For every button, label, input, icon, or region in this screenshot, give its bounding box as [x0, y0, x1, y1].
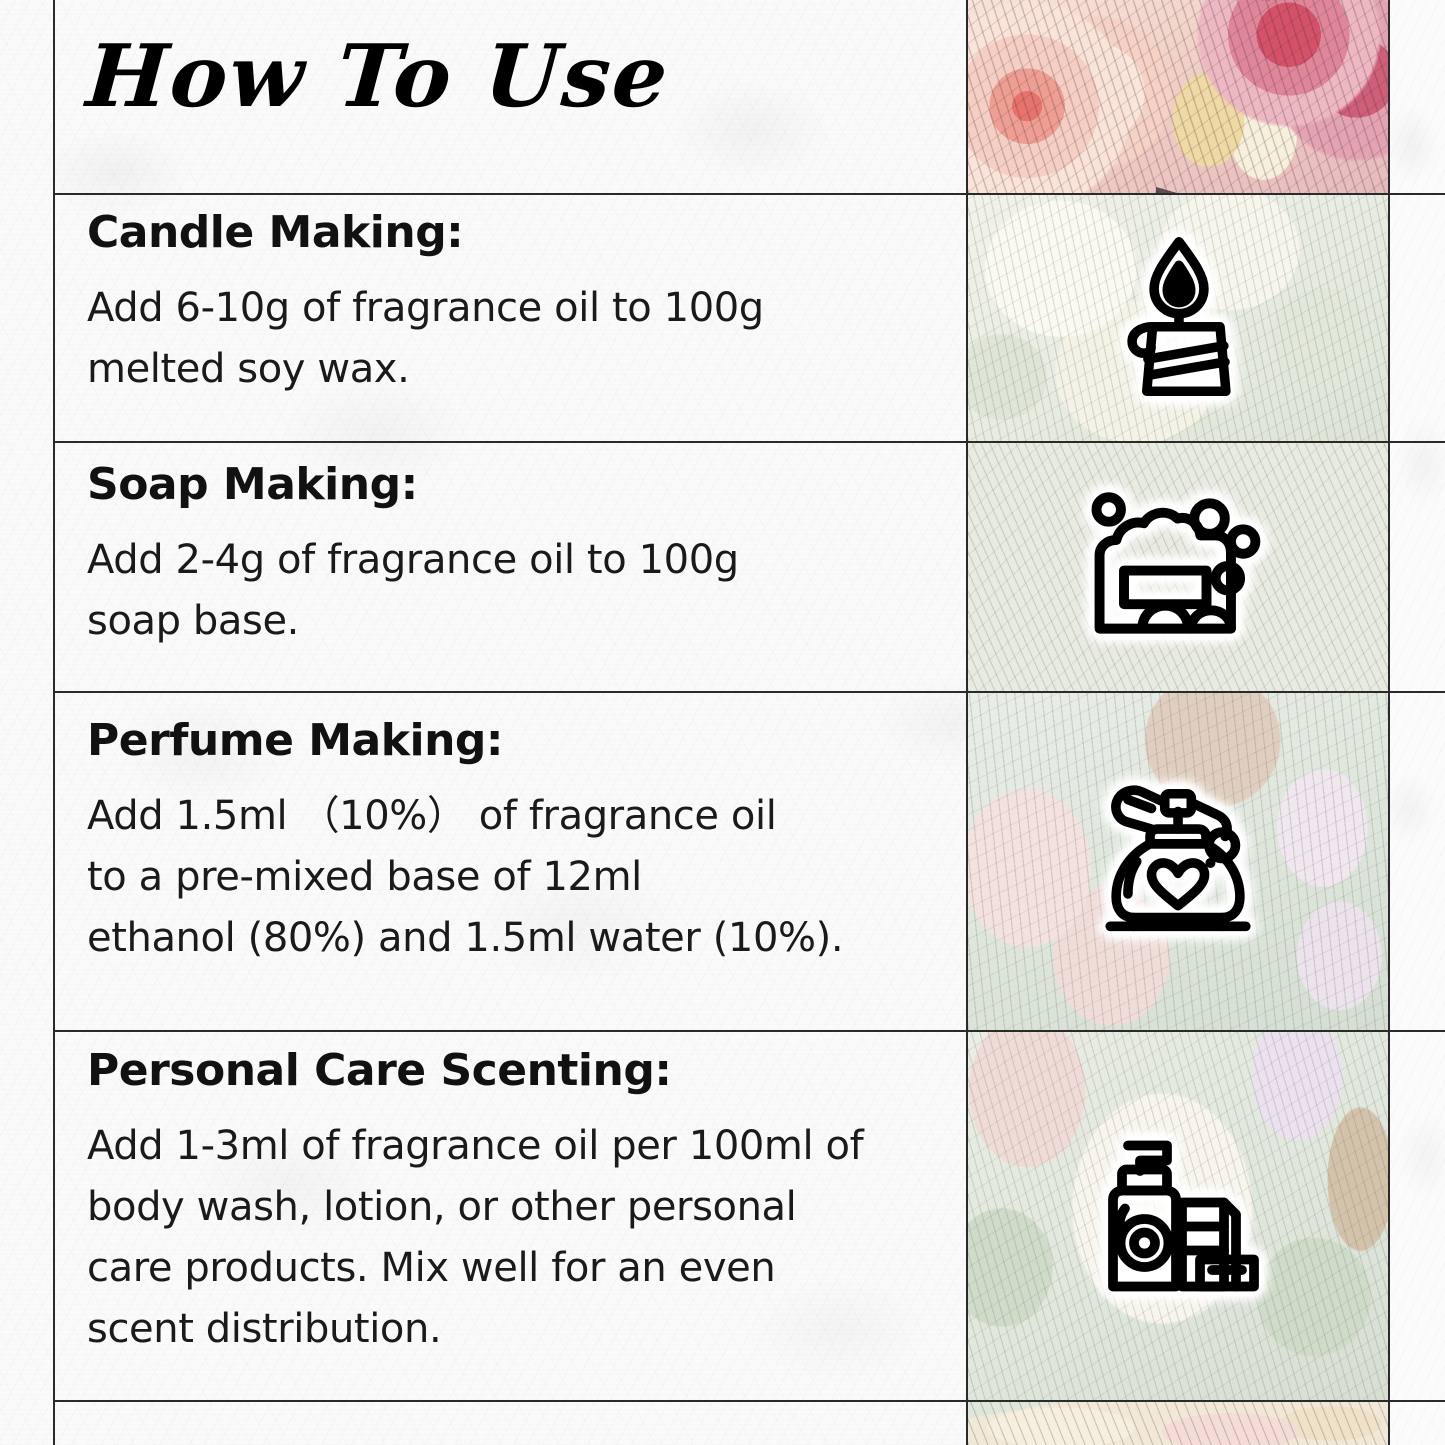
body-line: Add 1.5ml （10%） of fragrance oil [87, 786, 968, 847]
soap-bar-icon [968, 443, 1390, 691]
candle-icon [968, 195, 1390, 441]
photo-bloom [968, 1032, 1390, 1400]
body-line: Add 6-10g of fragrance oil to 100g [87, 278, 968, 339]
table-right-border [1388, 0, 1390, 1445]
section-body: Add 1-3ml of fragrance oil per 100ml of … [87, 1116, 968, 1359]
body-line: care products. Mix well for an even [87, 1238, 968, 1299]
section-heading: Soap Making: [87, 462, 968, 508]
body-line: scent distribution. [87, 1299, 968, 1360]
photo-sage [968, 693, 1390, 1030]
right-paper-margin [1390, 0, 1445, 1445]
section-heading: Perfume Making: [87, 718, 968, 764]
photo-roses [968, 0, 1390, 193]
body-line: ethanol (80%) and 1.5ml water (10%). [87, 908, 968, 969]
body-line: soap base. [87, 591, 968, 652]
section-personal-care-scenting: Personal Care Scenting: Add 1-3ml of fra… [55, 1048, 968, 1359]
section-perfume-making: Perfume Making: Add 1.5ml （10%） of fragr… [55, 718, 968, 969]
section-body: Add 6-10g of fragrance oil to 100g melte… [87, 278, 968, 400]
photo-berries [968, 443, 1390, 691]
section-heading: Candle Making: [87, 210, 968, 256]
table-middle-border [966, 0, 968, 1445]
divider-after-perfume [53, 1030, 1445, 1032]
body-line: melted soy wax. [87, 339, 968, 400]
body-line: Add 1-3ml of fragrance oil per 100ml of [87, 1116, 968, 1177]
photo-bottom [968, 1402, 1390, 1445]
photo-magnolia [968, 195, 1390, 441]
perfume-bottle-icon [968, 693, 1390, 1030]
section-heading: Personal Care Scenting: [87, 1048, 968, 1094]
section-soap-making: Soap Making: Add 2-4g of fragrance oil t… [55, 462, 968, 652]
how-to-use-infographic: How To Use Candle Making: Add 6-10g of f… [0, 0, 1445, 1445]
section-body: Add 1.5ml （10%） of fragrance oil to a pr… [87, 786, 968, 968]
lotion-bottle-icon [968, 1032, 1390, 1400]
rose-illustration [968, 0, 1390, 193]
body-line: body wash, lotion, or other personal [87, 1177, 968, 1238]
page-title: How To Use [83, 26, 672, 127]
body-line: to a pre-mixed base of 12ml [87, 847, 968, 908]
section-body: Add 2-4g of fragrance oil to 100g soap b… [87, 530, 968, 652]
body-line: Add 2-4g of fragrance oil to 100g [87, 530, 968, 591]
divider-after-soap [53, 691, 1445, 693]
section-candle-making: Candle Making: Add 6-10g of fragrance oi… [55, 210, 968, 400]
divider-after-personal-care [53, 1400, 1445, 1402]
divider-after-header [53, 193, 1445, 195]
divider-after-candle [53, 441, 1445, 443]
table-left-border [53, 0, 55, 1445]
header-row: How To Use [55, 0, 968, 193]
bottom-floral-illustration [968, 1402, 1390, 1445]
